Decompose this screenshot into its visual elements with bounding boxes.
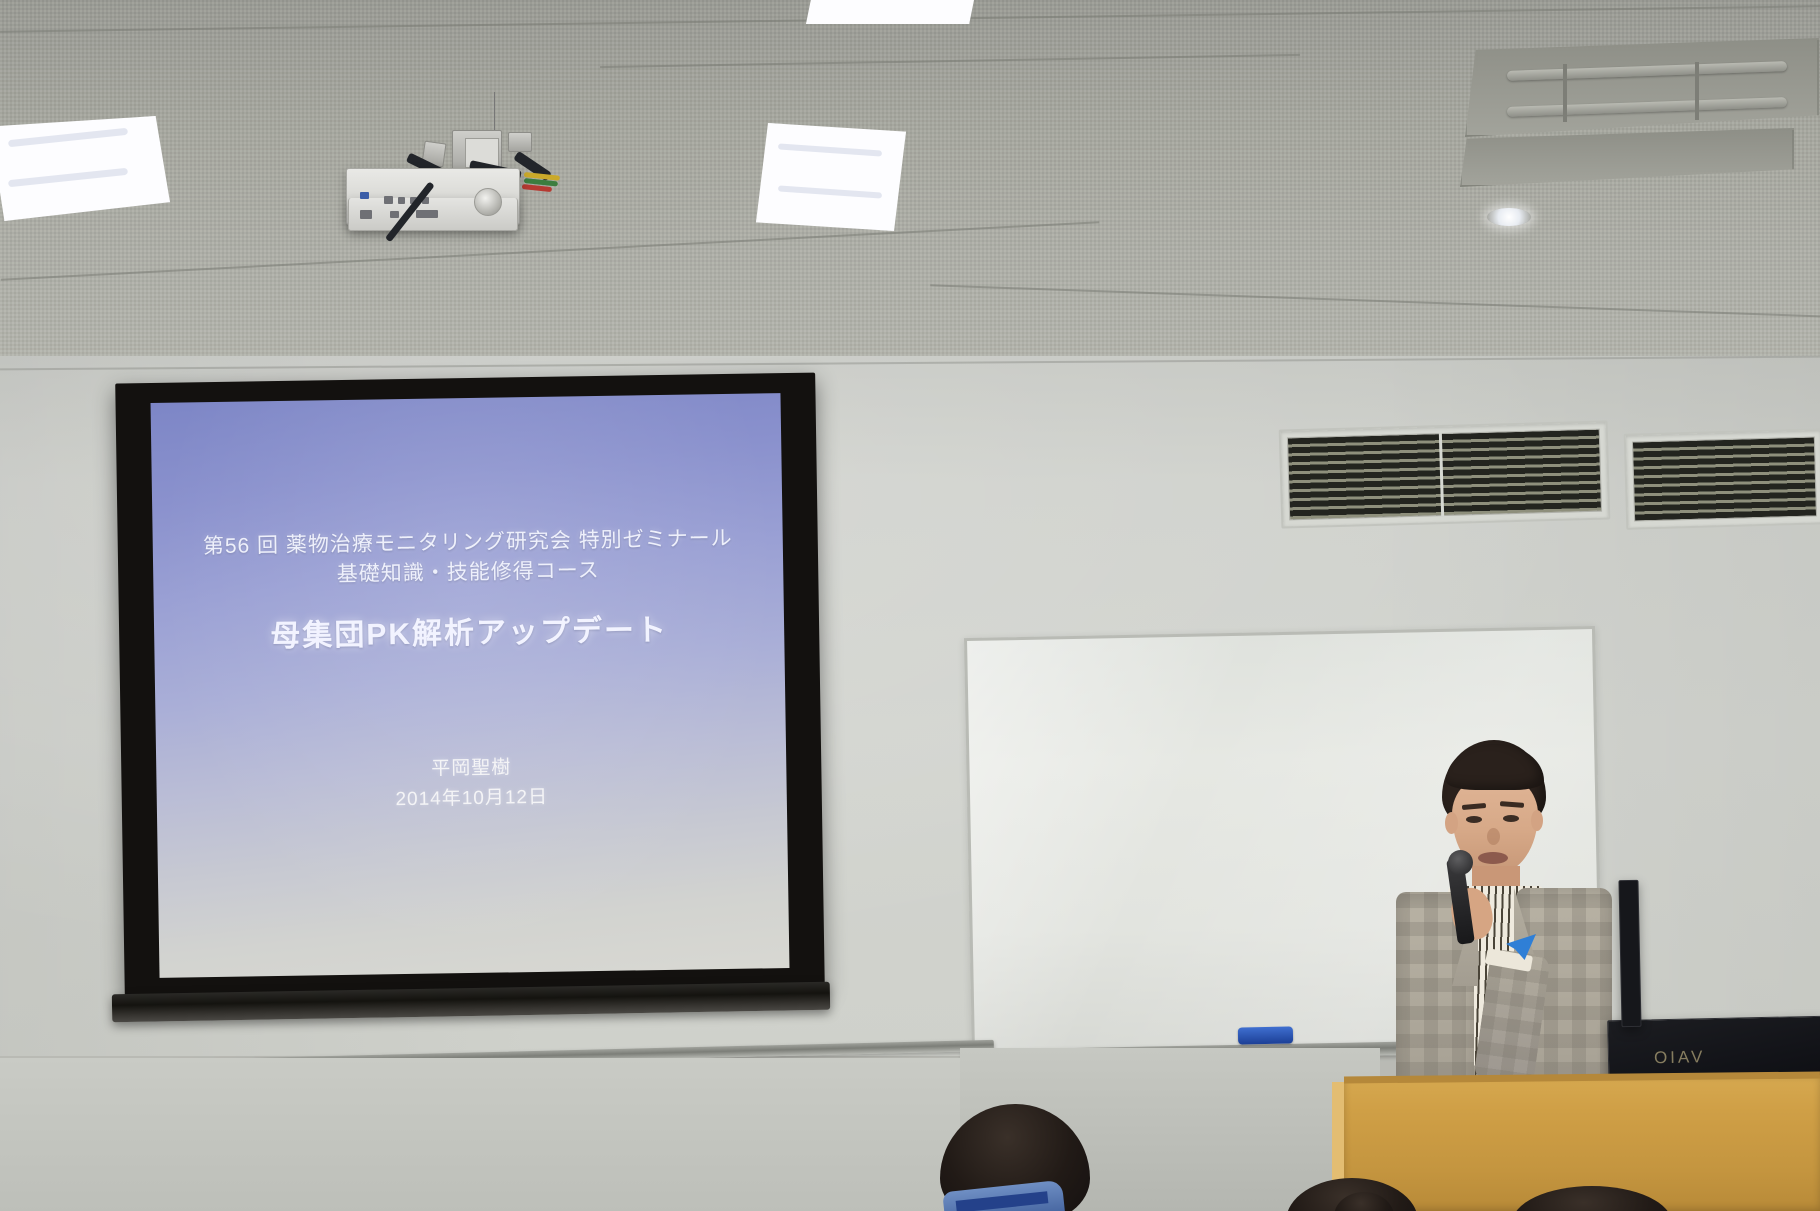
whiteboard-eraser[interactable] — [1238, 1026, 1293, 1044]
presenter-eye — [1466, 816, 1482, 823]
fluorescent-tube-unlit — [1507, 61, 1787, 81]
ceiling-light-panel — [806, 0, 976, 24]
presenter-mouth — [1478, 852, 1508, 864]
ceiling-downlight — [1487, 208, 1531, 226]
lecture-hall-photo: 第56 回 薬物治療モニタリング研究会 特別ゼミナール 基礎知識・技能修得コース… — [0, 0, 1820, 1211]
microphone-head — [1448, 850, 1473, 875]
slide-surface: 第56 回 薬物治療モニタリング研究会 特別ゼミナール 基礎知識・技能修得コース… — [151, 393, 790, 978]
projector-hanger-wire — [494, 92, 495, 134]
mount-rod — [1695, 62, 1699, 120]
fluorescent-tube — [778, 185, 882, 198]
presenter-ear — [1531, 810, 1543, 831]
projector-port — [398, 197, 405, 204]
projector-port — [390, 211, 399, 218]
projector-port — [360, 210, 372, 219]
presenter-nose — [1487, 828, 1500, 845]
projection-screen: 第56 回 薬物治療モニタリング研究会 特別ゼミナール 基礎知識・技能修得コース… — [115, 373, 825, 999]
lower-wall — [0, 1058, 1000, 1211]
air-vent — [1624, 428, 1820, 530]
presenter-eye — [1503, 815, 1519, 822]
laptop-brand-logo: VAIO — [1651, 1047, 1703, 1068]
fluorescent-tube — [778, 143, 882, 156]
air-vent-grille — [1632, 436, 1817, 521]
slide-glow — [151, 393, 790, 978]
projector-port — [416, 210, 438, 218]
mount-rod — [1563, 64, 1567, 122]
projector-lens — [474, 188, 502, 216]
projector-mount-arm — [508, 132, 532, 152]
ceiling-light-panel — [756, 123, 906, 231]
fluorescent-tube — [8, 168, 128, 188]
air-vent-grille — [1287, 429, 1602, 521]
fluorescent-tube — [8, 128, 128, 148]
presenter-hair-fringe — [1446, 744, 1544, 790]
fluorescent-tube-unlit — [1507, 97, 1787, 117]
laptop-screen-back — [1618, 880, 1641, 1027]
air-vent — [1279, 420, 1611, 528]
projector-port — [384, 196, 393, 204]
presenter-ear — [1445, 812, 1458, 834]
projector-port — [360, 192, 369, 199]
